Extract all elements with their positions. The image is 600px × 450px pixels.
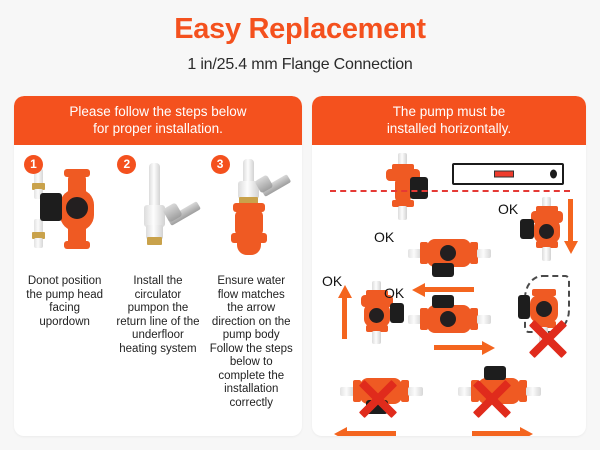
step-1: 1 xyxy=(18,153,111,410)
level-vial-icon xyxy=(494,171,514,178)
right-heading-line-1: The pump must be xyxy=(318,103,580,120)
motor-box xyxy=(390,303,404,323)
motor-box xyxy=(410,177,428,199)
orientation-diagram: OK OK xyxy=(312,145,586,436)
wrong-mark-chain xyxy=(520,311,576,367)
flow-arrow-bottom-left xyxy=(334,427,396,436)
pump-dial-icon xyxy=(438,243,458,263)
pump-dial-icon xyxy=(367,306,386,325)
horizontal-install-panel: The pump must be installed horizontally. xyxy=(312,96,586,436)
step-1-caption: Donot position the pump head facing upor… xyxy=(18,271,111,329)
flow-arrow-down xyxy=(564,199,578,255)
pump-dial-icon xyxy=(64,195,90,221)
left-panel-heading: Please follow the steps below for proper… xyxy=(14,96,302,145)
spirit-level-icon xyxy=(452,163,564,185)
reference-pump xyxy=(376,153,432,225)
page-subtitle: 1 in/25.4 mm Flange Connection xyxy=(0,46,600,74)
flow-arrow-bottom-right xyxy=(472,427,534,436)
ok-label-center-right: OK xyxy=(384,285,404,301)
pump-dial-icon xyxy=(537,222,556,241)
motor-box xyxy=(432,295,454,308)
step-3: 3 Ensure water flow matches the arrow di… xyxy=(205,153,298,410)
left-heading-line-1: Please follow the steps below xyxy=(20,103,296,120)
right-panel-heading: The pump must be installed horizontally. xyxy=(312,96,586,145)
pump-dial-icon xyxy=(438,309,458,329)
motor-box xyxy=(432,263,454,277)
step-2-caption: Install the circulator pumpon the return… xyxy=(111,271,204,356)
steps-row: 1 xyxy=(14,145,302,410)
pump-orientation-center-left xyxy=(408,227,492,279)
motor-box xyxy=(40,193,62,221)
page-title: Easy Replacement xyxy=(0,0,600,46)
motor-box xyxy=(520,219,534,239)
ok-label-center-left: OK xyxy=(374,229,394,245)
installation-steps-panel: Please follow the steps below for proper… xyxy=(14,96,302,436)
wrong-mark-bottom-left xyxy=(350,371,406,427)
wrong-mark-bottom-right xyxy=(464,371,520,427)
horizontal-reference-line xyxy=(330,190,570,192)
right-heading-line-2: installed horizontally. xyxy=(318,120,580,137)
flow-arrow-right xyxy=(434,341,496,355)
ok-label-right-down: OK xyxy=(498,201,518,217)
step-1-badge: 1 xyxy=(24,155,43,174)
infographic-page: Easy Replacement 1 in/25.4 mm Flange Con… xyxy=(0,0,600,450)
left-heading-line-2: for proper installation. xyxy=(20,120,296,137)
level-knob-icon xyxy=(550,170,557,179)
step-3-badge: 3 xyxy=(211,155,230,174)
panels-container: Please follow the steps below for proper… xyxy=(0,96,600,436)
pump-orientation-center-right xyxy=(408,293,492,345)
step-2: 2 Install the circulator pumpon the retu… xyxy=(111,153,204,410)
flow-arrow-up xyxy=(338,285,350,339)
step-3-caption: Ensure water flow matches the arrow dire… xyxy=(205,271,298,410)
